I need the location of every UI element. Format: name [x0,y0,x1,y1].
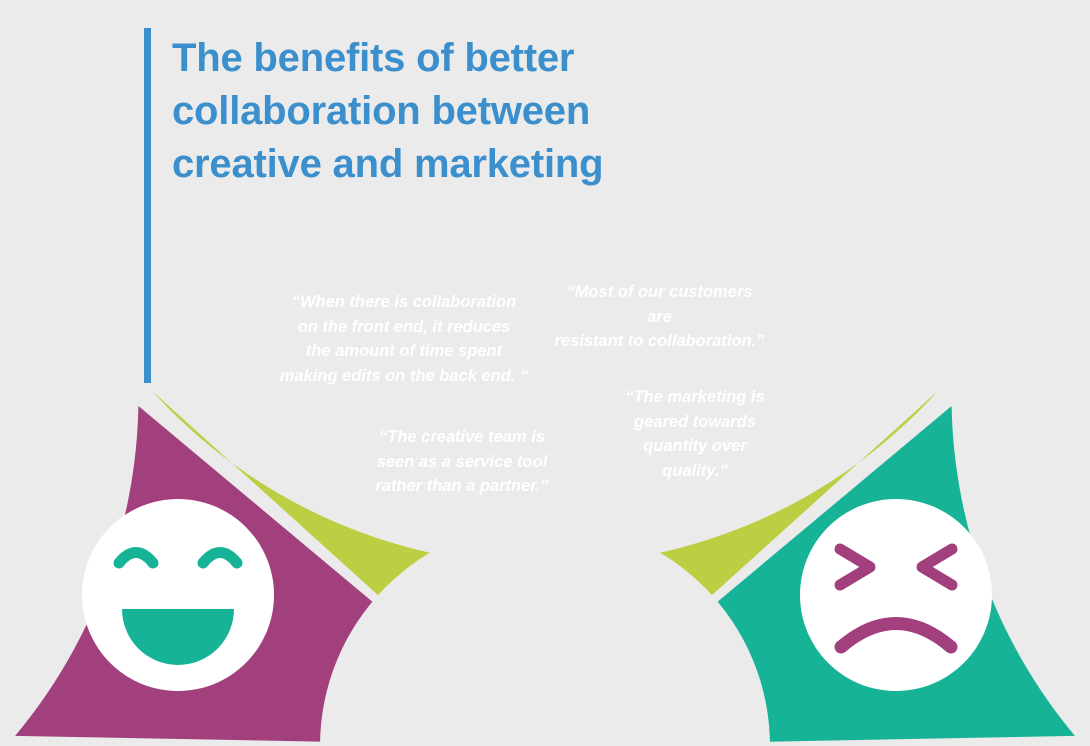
sad-face-circle [800,499,992,691]
page-title-block: The benefits of better collaboration bet… [144,28,603,383]
page-title: The benefits of better collaboration bet… [172,28,603,383]
quote-label-4: “The marketing is geared towards quantit… [616,385,774,483]
quote-label-2: “The creative team is seen as a service … [372,425,552,499]
happy-face-icon [80,497,276,693]
infographic-canvas: The benefits of better collaboration bet… [0,0,1090,746]
title-accent-rule [144,28,151,383]
sad-face-icon [798,497,994,693]
